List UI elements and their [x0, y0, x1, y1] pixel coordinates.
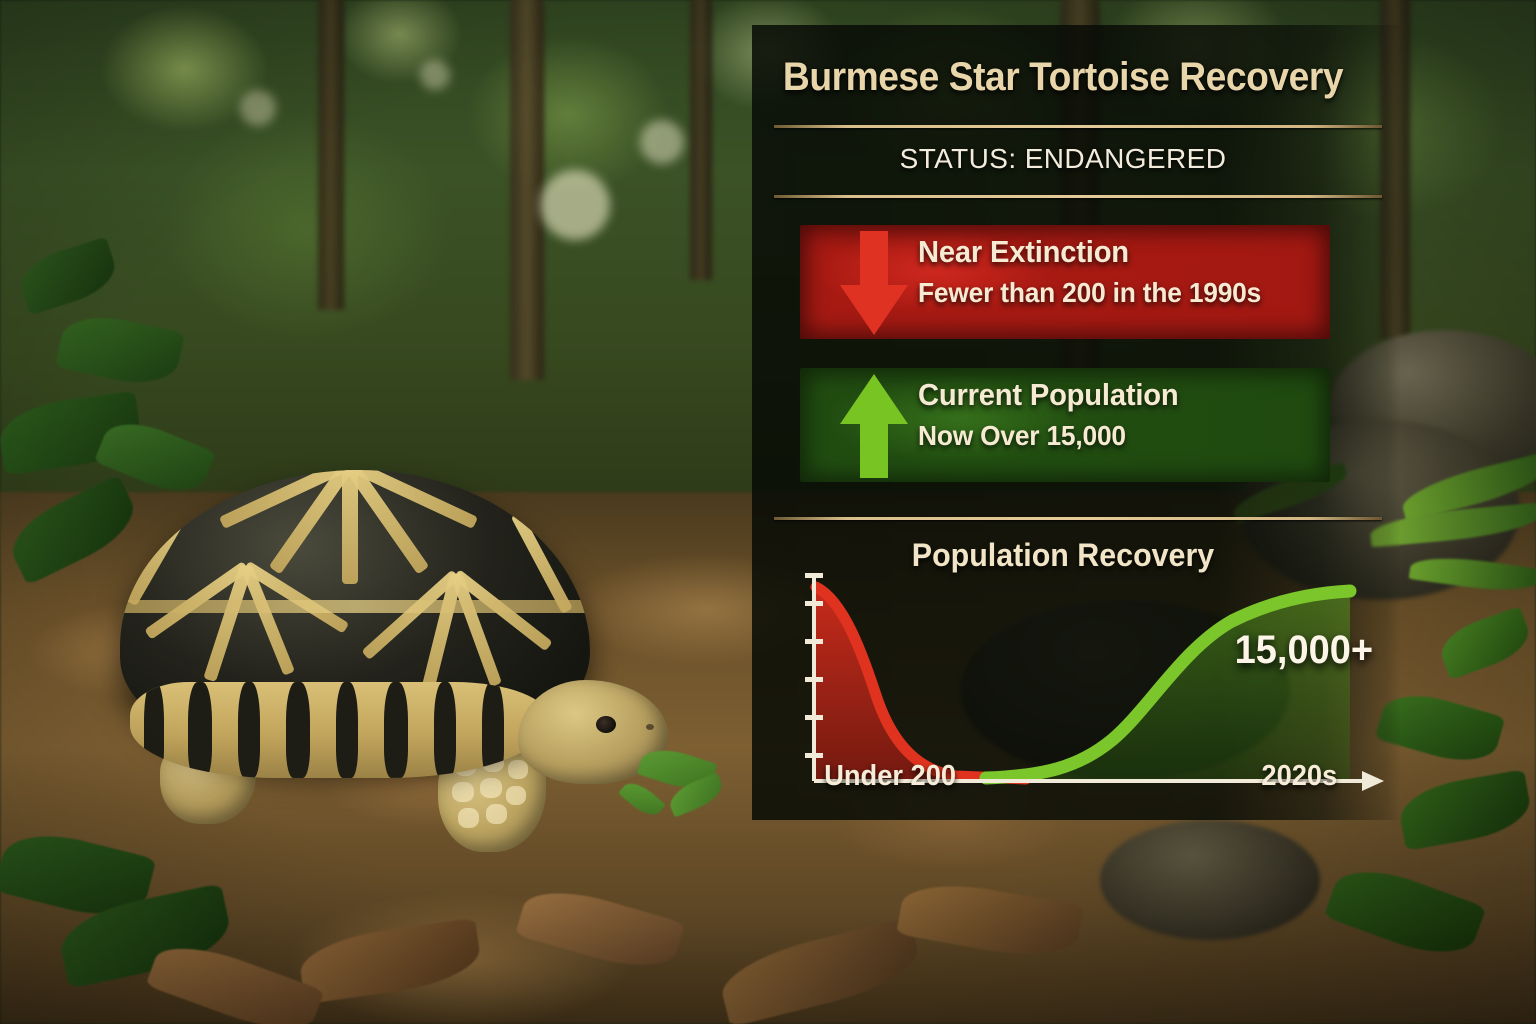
y-tick [805, 677, 823, 682]
value-callout: 15,000+ [1235, 628, 1373, 673]
divider-status [774, 195, 1382, 198]
arrow-down-icon [838, 229, 910, 337]
y-tick [805, 573, 823, 578]
stat-band-near-extinction: Near Extinction Fewer than 200 in the 19… [800, 225, 1330, 339]
band-text-group: Current Population Now Over 15,000 [918, 376, 1320, 454]
y-tick [805, 601, 823, 606]
band-heading: Near Extinction [918, 233, 1296, 271]
divider-top [774, 125, 1382, 128]
band-subtext: Now Over 15,000 [918, 418, 1296, 454]
tree-trunk [318, 0, 344, 310]
axis-label-start: Under 200 [824, 760, 956, 793]
band-heading: Current Population [918, 376, 1296, 414]
y-tick [805, 753, 823, 758]
axis-x-arrowhead [1362, 771, 1384, 791]
rock [1100, 820, 1320, 940]
y-tick [805, 639, 823, 644]
tortoise-nostril [646, 724, 654, 730]
green-sprig [618, 776, 666, 821]
info-panel: Burmese Star Tortoise Recovery STATUS: E… [752, 25, 1400, 820]
tortoise-plastron [130, 682, 550, 778]
band-subtext: Fewer than 200 in the 1990s [918, 275, 1296, 311]
chart-title: Population Recovery [768, 537, 1359, 574]
stat-band-current-population: Current Population Now Over 15,000 [800, 368, 1330, 482]
y-tick [805, 715, 823, 720]
infographic-canvas: Burmese Star Tortoise Recovery STATUS: E… [0, 0, 1536, 1024]
band-text-group: Near Extinction Fewer than 200 in the 19… [918, 233, 1320, 311]
tree-trunk [690, 0, 712, 280]
tortoise-eye [596, 716, 616, 733]
page-title: Burmese Star Tortoise Recovery [774, 55, 1352, 100]
tortoise-photo-subject [120, 470, 720, 860]
axis-label-end: 2020s [1261, 760, 1337, 793]
divider-chart [774, 517, 1382, 520]
status-badge: STATUS: ENDANGERED [752, 143, 1374, 175]
tree-trunk [510, 0, 544, 380]
arrow-up-icon [838, 372, 910, 480]
